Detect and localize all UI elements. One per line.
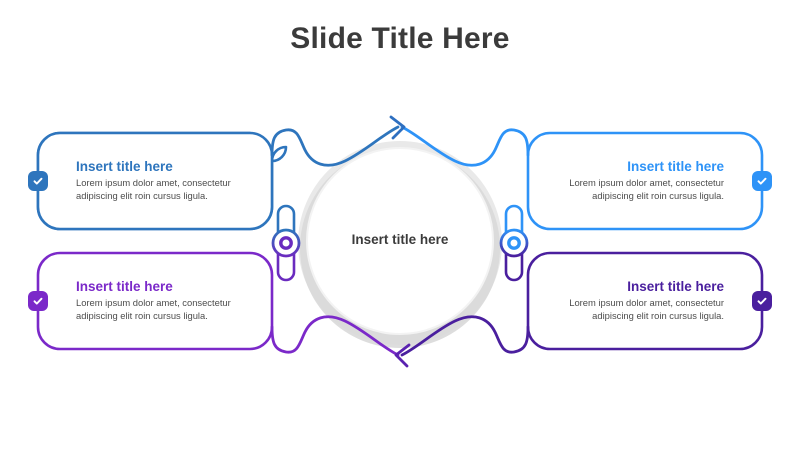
card-top-right[interactable]: Insert title here Lorem ipsum dolor amet… [528, 133, 762, 229]
check-badge-top-left [28, 171, 48, 191]
connector-node-right [501, 206, 527, 280]
card-bottom-right[interactable]: Insert title here Lorem ipsum dolor amet… [528, 253, 762, 349]
card-body: Lorem ipsum dolor amet, consectetur adip… [76, 177, 262, 203]
check-icon [756, 295, 768, 307]
check-icon [32, 175, 44, 187]
card-title: Insert title here [538, 159, 724, 176]
check-icon [756, 175, 768, 187]
check-badge-bottom-right [752, 291, 772, 311]
check-badge-bottom-left [28, 291, 48, 311]
slide-canvas: Slide Title Here [0, 0, 800, 450]
card-body: Lorem ipsum dolor amet, consectetur adip… [76, 297, 262, 323]
check-icon [32, 295, 44, 307]
card-title: Insert title here [76, 279, 262, 296]
card-title: Insert title here [538, 279, 724, 296]
card-body: Lorem ipsum dolor amet, consectetur adip… [538, 177, 724, 203]
center-circle-label: Insert title here [310, 232, 490, 247]
card-title: Insert title here [76, 159, 262, 176]
card-bottom-left[interactable]: Insert title here Lorem ipsum dolor amet… [38, 253, 272, 349]
connector-node-left [273, 206, 299, 280]
card-top-left[interactable]: Insert title here Lorem ipsum dolor amet… [38, 133, 272, 229]
check-badge-top-right [752, 171, 772, 191]
card-body: Lorem ipsum dolor amet, consectetur adip… [538, 297, 724, 323]
